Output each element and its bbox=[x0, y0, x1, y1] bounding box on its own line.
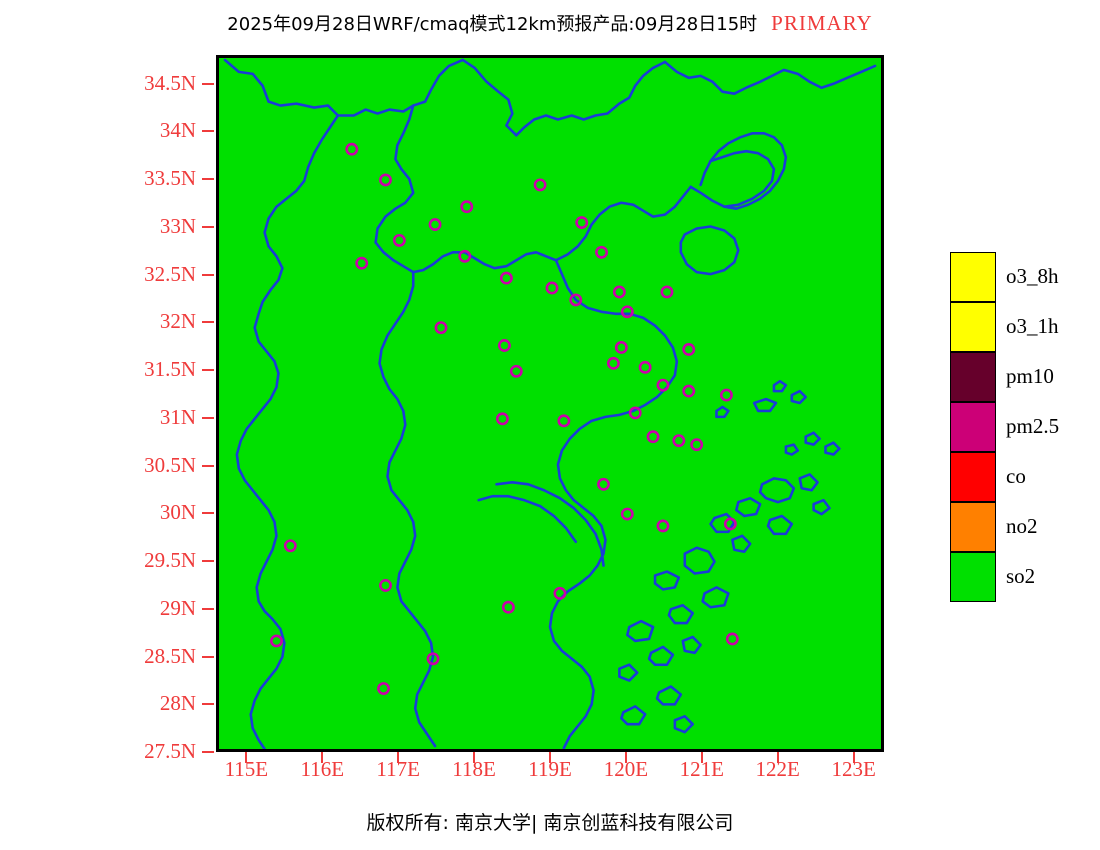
legend-swatch bbox=[950, 252, 996, 302]
y-axis-label: 34N bbox=[0, 120, 196, 141]
y-axis-label: 34.5N bbox=[0, 73, 196, 94]
y-axis-tick bbox=[202, 274, 214, 276]
y-axis-tick bbox=[202, 417, 214, 419]
y-axis-label: 30N bbox=[0, 502, 196, 523]
y-axis-tick bbox=[202, 656, 214, 658]
legend-swatch bbox=[950, 502, 996, 552]
legend-label: pm2.5 bbox=[1006, 414, 1059, 439]
y-axis-tick bbox=[202, 226, 214, 228]
y-axis-label: 30.5N bbox=[0, 455, 196, 476]
y-axis-tick bbox=[202, 83, 214, 85]
y-axis-label: 33N bbox=[0, 216, 196, 237]
y-axis-tick bbox=[202, 560, 214, 562]
legend-swatch bbox=[950, 402, 996, 452]
copyright-footer: 版权所有: 南京大学| 南京创蓝科技有限公司 bbox=[0, 808, 1100, 835]
title-model-text: 2025年09月28日WRF/cmaq模式12km预报产品:09月28日15时 bbox=[227, 14, 757, 35]
legend-label: pm10 bbox=[1006, 364, 1054, 389]
legend-label: so2 bbox=[1006, 564, 1035, 589]
legend-label: co bbox=[1006, 464, 1026, 489]
y-axis-tick bbox=[202, 512, 214, 514]
y-axis-label: 28.5N bbox=[0, 646, 196, 667]
y-axis-tick bbox=[202, 321, 214, 323]
y-axis-label: 31.5N bbox=[0, 359, 196, 380]
forecast-map[interactable] bbox=[216, 55, 884, 752]
legend-swatch bbox=[950, 552, 996, 602]
legend-label: no2 bbox=[1006, 514, 1038, 539]
y-axis-tick bbox=[202, 465, 214, 467]
y-axis-tick bbox=[202, 178, 214, 180]
y-axis-label: 27.5N bbox=[0, 741, 196, 762]
y-axis-label: 32.5N bbox=[0, 264, 196, 285]
legend-swatch bbox=[950, 352, 996, 402]
y-axis-label: 28N bbox=[0, 693, 196, 714]
legend-swatch bbox=[950, 452, 996, 502]
legend-label: o3_8h bbox=[1006, 264, 1059, 289]
legend-label: o3_1h bbox=[1006, 314, 1059, 339]
y-axis-tick bbox=[202, 608, 214, 610]
y-axis-label: 32N bbox=[0, 311, 196, 332]
y-axis-label: 29N bbox=[0, 598, 196, 619]
map-vector-layer bbox=[219, 58, 881, 749]
y-axis-label: 31N bbox=[0, 407, 196, 428]
y-axis-tick bbox=[202, 369, 214, 371]
page-title: 2025年09月28日WRF/cmaq模式12km预报产品:09月28日15时P… bbox=[0, 10, 1100, 36]
x-axis-label: 123E bbox=[809, 758, 899, 780]
y-axis-label: 33.5N bbox=[0, 168, 196, 189]
y-axis-tick bbox=[202, 751, 214, 753]
y-axis-label: 29.5N bbox=[0, 550, 196, 571]
title-primary-badge: PRIMARY bbox=[757, 11, 873, 35]
legend-swatch bbox=[950, 302, 996, 352]
y-axis-tick bbox=[202, 703, 214, 705]
y-axis-tick bbox=[202, 130, 214, 132]
